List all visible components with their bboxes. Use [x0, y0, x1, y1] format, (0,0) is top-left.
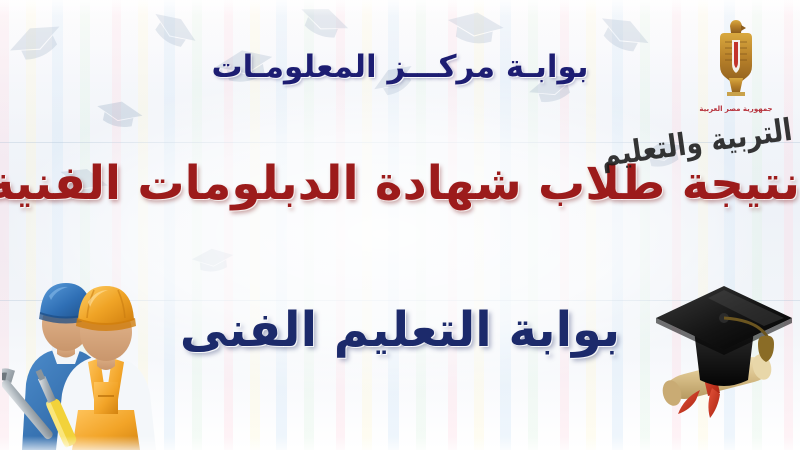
education-portal-banner: بوابـة مركـــز المعلومـات نتيجة طلاب شها…	[0, 0, 800, 450]
technical-workers-illustration	[2, 254, 170, 450]
graduation-cap-diploma-illustration	[646, 272, 796, 448]
republic-of-egypt-caption: جمهورية مصر العربية	[699, 105, 772, 113]
egypt-eagle-icon	[707, 18, 765, 102]
ministry-emblem-block: جمهورية مصر العربية وزارة التربية والتعل…	[680, 14, 792, 236]
graduation-cap-icon	[656, 286, 792, 386]
